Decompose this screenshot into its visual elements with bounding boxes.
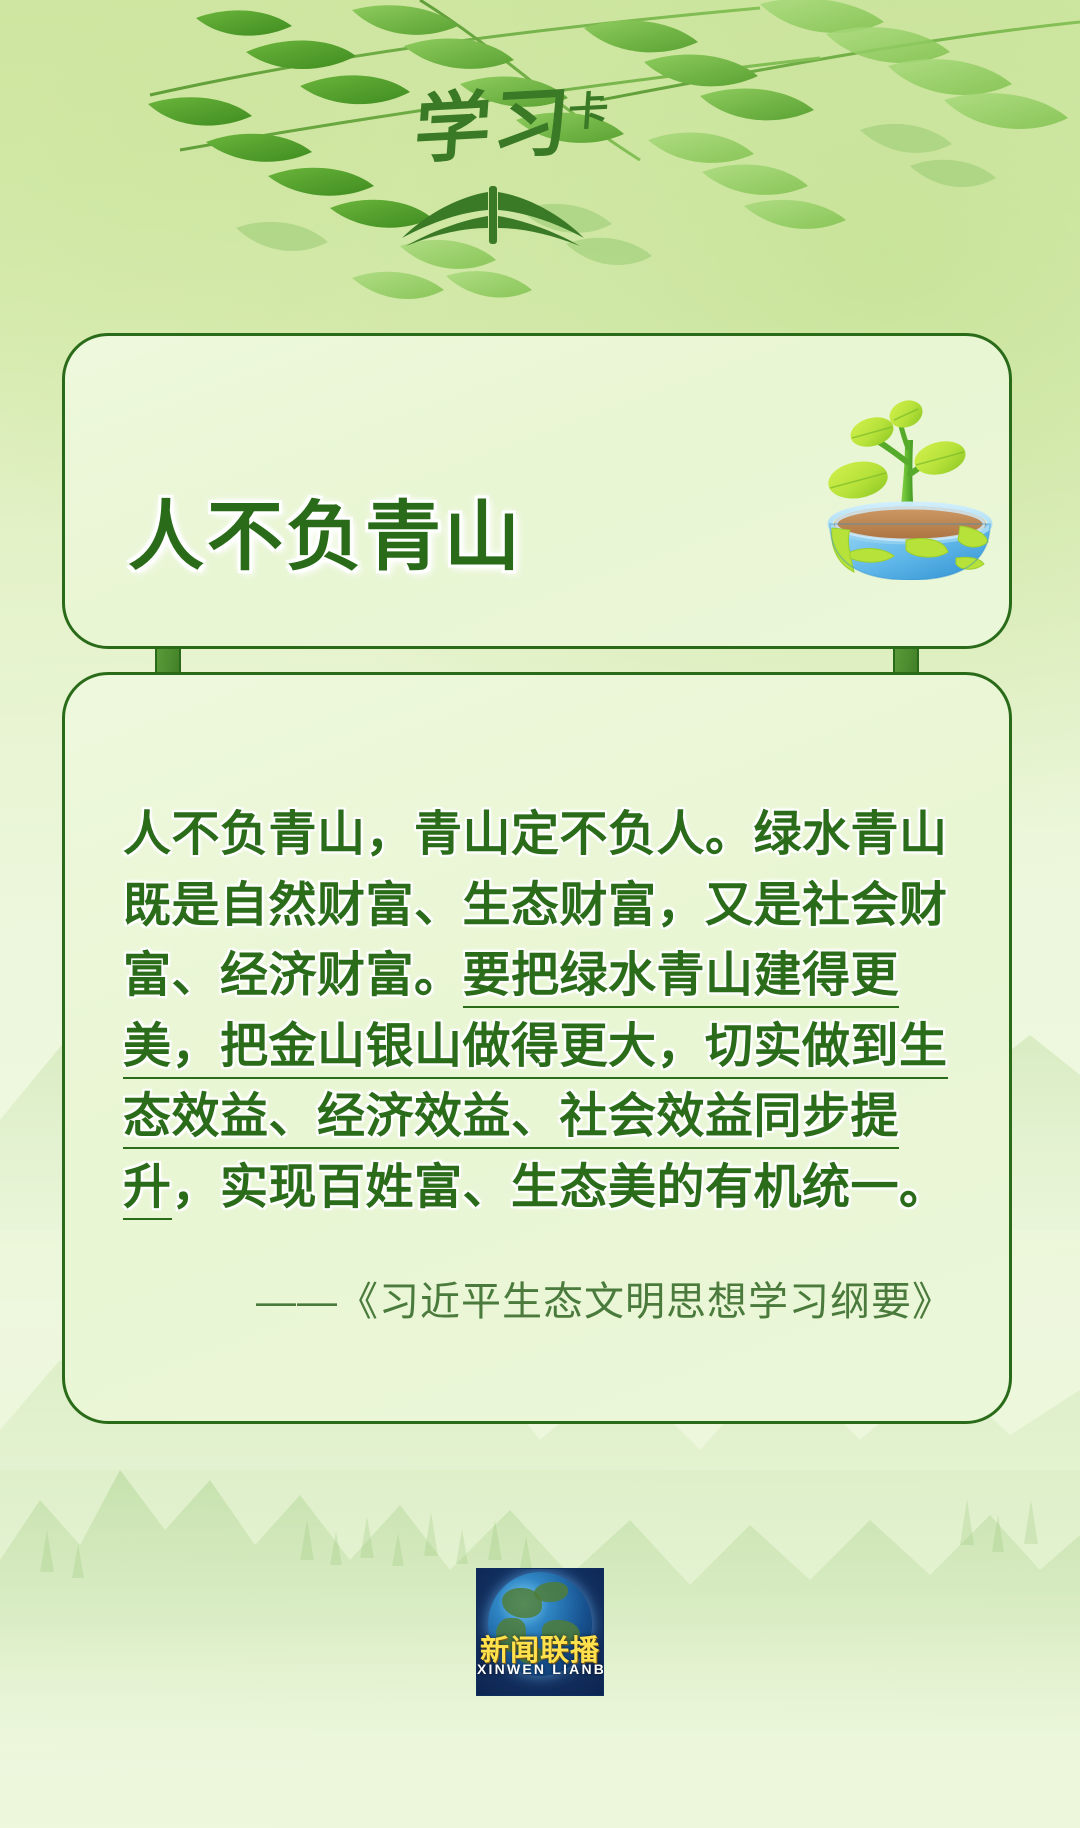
logo-suffix-text: 卡 <box>566 88 611 135</box>
poster-root: 学习卡 人不负青山 青山定不负人 <box>0 0 1080 1828</box>
logo-main-text: 学习 <box>412 81 575 173</box>
title-line-1: 人不负青山 <box>128 488 688 588</box>
quote-part-plain-2: ，实现百姓富、生态美的有机统一。 <box>172 1161 948 1214</box>
xinwen-lianbo-logo: 新闻联播 XINWEN LIANBO <box>476 1568 604 1696</box>
xuexika-logo: 学习卡 <box>390 88 640 248</box>
quote-paragraph: 人不负青山，青山定不负人。绿水青山既是自然财富、生态财富，又是社会财富、经济财富… <box>123 800 953 1223</box>
xinwen-lianbo-en-label: XINWEN LIANBO <box>477 1661 603 1677</box>
quote-attribution: ——《习近平生态文明思想学习纲要》 <box>123 1269 953 1327</box>
logo-text: 学习卡 <box>412 83 612 169</box>
sapling-in-globe-bowl-icon <box>810 400 1010 580</box>
open-book-icon <box>370 176 620 248</box>
